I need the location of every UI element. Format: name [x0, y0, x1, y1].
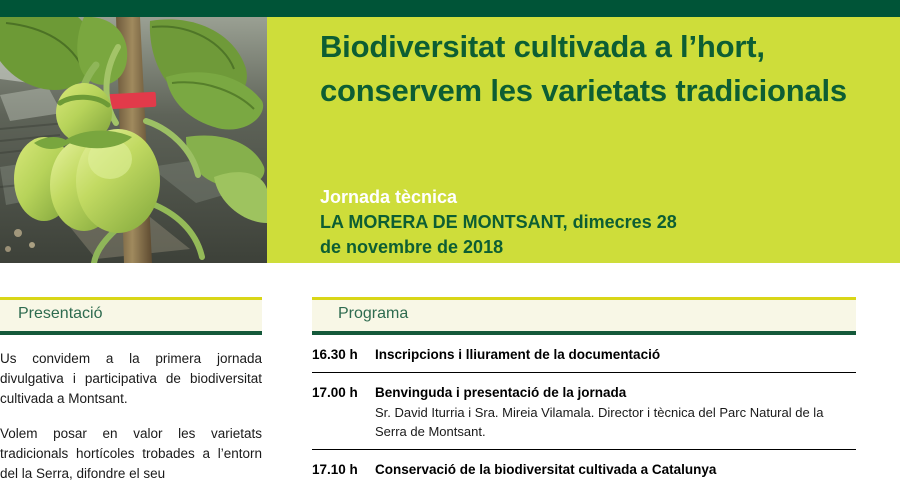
programme-row: 17.00 h Benvinguda i presentació de la j…: [312, 373, 856, 450]
event-place-line-2: de novembre de 2018: [320, 235, 890, 260]
hero-banner: Biodiversitat cultivada a l’hort, conser…: [0, 17, 900, 263]
programme-speaker: Sr. David Iturria i Sra. Mireia Vilamala…: [375, 403, 856, 441]
hero-title-panel: Biodiversitat cultivada a l’hort, conser…: [267, 17, 900, 263]
presentation-paragraph: Us convidem a la primera jornada divulga…: [0, 349, 262, 409]
programme-heading: Programa: [338, 305, 408, 323]
page-title: Biodiversitat cultivada a l’hort, conser…: [320, 25, 880, 113]
programme-header: Programa: [312, 297, 856, 335]
presentation-paragraph: Volem posar en valor les varietats tradi…: [0, 424, 262, 484]
top-accent-bar: [0, 0, 900, 17]
programme-title: Benvinguda i presentació de la jornada: [375, 383, 856, 402]
tomato-plant-photo: [0, 17, 267, 263]
event-type-label: Jornada tècnica: [320, 185, 890, 210]
programme-title: Inscripcions i lliurament de la document…: [375, 345, 856, 364]
presentation-column: Presentació Us convidem a la primera jor…: [0, 297, 262, 499]
programme-row: 16.30 h Inscripcions i lliurament de la …: [312, 335, 856, 373]
programme-entry: Benvinguda i presentació de la jornada S…: [375, 383, 856, 441]
programme-row: 17.10 h Conservació de la biodiversitat …: [312, 450, 856, 487]
programme-column: Programa 16.30 h Inscripcions i lliurame…: [312, 297, 856, 487]
event-place-line-1: LA MORERA DE MONTSANT, dimecres 28: [320, 210, 890, 235]
programme-entry: Inscripcions i lliurament de la document…: [375, 345, 856, 364]
programme-list: 16.30 h Inscripcions i lliurament de la …: [312, 335, 856, 487]
presentation-heading: Presentació: [18, 305, 103, 323]
presentation-body: Us convidem a la primera jornada divulga…: [0, 335, 262, 484]
programme-time: 17.00 h: [312, 383, 375, 441]
programme-time: 16.30 h: [312, 345, 375, 364]
presentation-header: Presentació: [0, 297, 262, 335]
hero-photo: [0, 17, 267, 263]
hero-subtitle-block: Jornada tècnica LA MORERA DE MONTSANT, d…: [320, 185, 890, 260]
